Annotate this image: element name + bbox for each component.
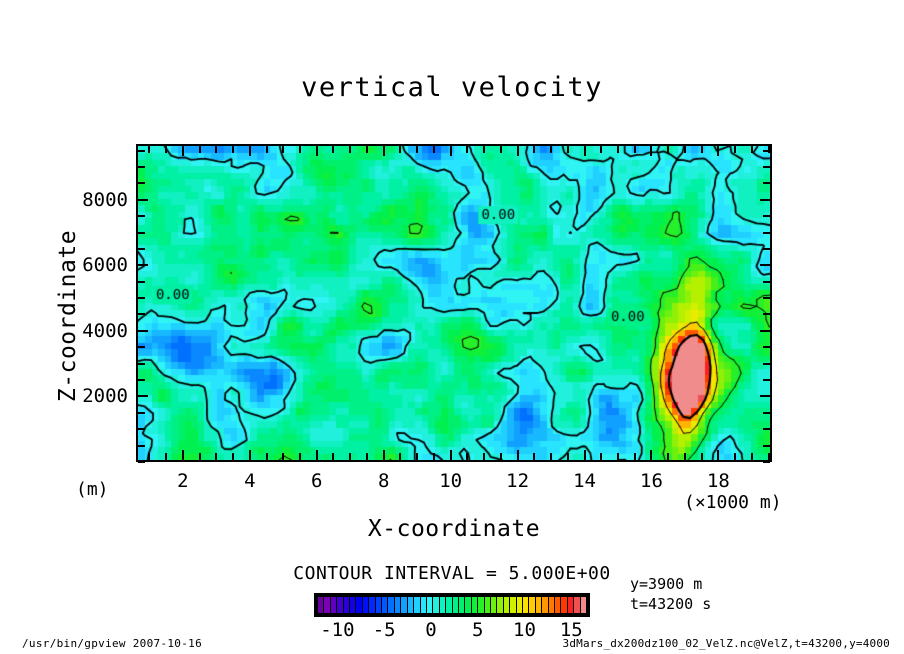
colorbar-cell (529, 597, 534, 613)
colorbar-cell (363, 597, 368, 613)
x-tick (684, 146, 686, 153)
x-tick (383, 146, 385, 156)
colorbar-cell (581, 597, 586, 613)
y-tick (763, 313, 770, 315)
x-tick (483, 146, 485, 153)
y-tick (138, 199, 148, 201)
colorbar-cell (440, 597, 445, 613)
velocity-field-heatmap (138, 146, 770, 460)
x-tick (383, 450, 385, 460)
y-tick (763, 412, 770, 414)
plot-area[interactable] (136, 144, 772, 462)
x-tick-label: 6 (311, 470, 322, 492)
x-tick (567, 453, 569, 460)
x-tick (450, 146, 452, 156)
x-tick (266, 146, 268, 153)
colorbar-cell (446, 597, 451, 613)
y-tick (138, 182, 145, 184)
x-tick (768, 453, 770, 460)
x-tick (533, 453, 535, 460)
y-tick (763, 428, 770, 430)
x-tick (232, 453, 234, 460)
y-tick (138, 363, 145, 365)
x-tick (533, 146, 535, 153)
x-tick (717, 450, 719, 460)
x-tick (215, 453, 217, 460)
x-tick (232, 146, 234, 153)
y-tick (760, 330, 770, 332)
x-tick (517, 450, 519, 460)
y-tick (763, 297, 770, 299)
x-tick (249, 450, 251, 460)
x-tick (366, 453, 368, 460)
colorbar-cell (376, 597, 381, 613)
y-tick (760, 199, 770, 201)
y-tick (138, 395, 148, 397)
x-tick (182, 146, 184, 156)
colorbar-cell (459, 597, 464, 613)
x-tick (349, 453, 351, 460)
x-tick (349, 146, 351, 153)
colorbar-cell (408, 597, 413, 613)
x-tick (701, 453, 703, 460)
colorbar-cell (504, 597, 509, 613)
y-tick (138, 264, 148, 266)
x-tick-label: 12 (506, 470, 529, 492)
y-tick (763, 232, 770, 234)
colorbar-cell (356, 597, 361, 613)
footer-command: /usr/bin/gpview 2007-10-16 (22, 637, 202, 650)
x-tick (299, 453, 301, 460)
annotation-time: t=43200 s (630, 594, 711, 614)
footer-dataset: 3dMars_dx200dz100_02_VelZ.nc@VelZ,t=4320… (563, 637, 890, 650)
annotation-y-slice: y=3900 m (630, 574, 711, 594)
colorbar-cell (382, 597, 387, 613)
x-tick (483, 453, 485, 460)
x-tick (282, 453, 284, 460)
x-tick (182, 450, 184, 460)
y-tick (763, 445, 770, 447)
colorbar-cell (536, 597, 541, 613)
x-tick (199, 146, 201, 153)
x-tick (751, 453, 753, 460)
y-axis-title: Z-coordinate (55, 186, 81, 446)
y-tick (760, 395, 770, 397)
colorbar-tick-label: -10 (320, 619, 354, 641)
colorbar-cell (318, 597, 323, 613)
x-tick (466, 453, 468, 460)
y-axis-unit-label: (m) (76, 479, 109, 500)
colorbar-cell (388, 597, 393, 613)
colorbar-cell (574, 597, 579, 613)
page-title: vertical velocity (0, 72, 904, 103)
x-tick (416, 146, 418, 153)
slice-annotations: y=3900 m t=43200 s (630, 574, 711, 614)
x-tick (165, 453, 167, 460)
y-tick (138, 428, 145, 430)
x-tick (684, 453, 686, 460)
x-tick (517, 146, 519, 156)
x-tick (584, 450, 586, 460)
colorbar-cell (472, 597, 477, 613)
x-tick (500, 453, 502, 460)
x-tick (634, 453, 636, 460)
x-tick (450, 450, 452, 460)
y-tick (138, 379, 145, 381)
colorbar-cell (510, 597, 515, 613)
colorbar-tick-label: -5 (373, 619, 396, 641)
x-tick (165, 146, 167, 153)
x-tick (466, 146, 468, 153)
x-tick (701, 146, 703, 153)
x-tick (316, 450, 318, 460)
y-tick (763, 379, 770, 381)
colorbar-cell (478, 597, 483, 613)
x-tick (399, 453, 401, 460)
y-tick (763, 215, 770, 217)
colorbar[interactable] (314, 593, 590, 617)
y-tick (763, 346, 770, 348)
x-tick (366, 146, 368, 153)
colorbar-cell (433, 597, 438, 613)
x-axis-title: X-coordinate (136, 516, 772, 542)
colorbar-cell (324, 597, 329, 613)
colorbar-cell (401, 597, 406, 613)
y-tick (763, 461, 770, 463)
y-tick (138, 330, 148, 332)
x-tick-label: 14 (573, 470, 596, 492)
colorbar-cell (542, 597, 547, 613)
colorbar-cell (453, 597, 458, 613)
x-axis-unit-label: (×1000 m) (684, 492, 782, 513)
x-tick (249, 146, 251, 156)
y-tick (138, 313, 145, 315)
y-tick (138, 248, 145, 250)
colorbar-tick-label: 10 (513, 619, 536, 641)
y-tick (138, 166, 145, 168)
x-tick (584, 146, 586, 156)
x-tick (650, 450, 652, 460)
x-tick (148, 453, 150, 460)
y-tick (763, 248, 770, 250)
x-tick (316, 146, 318, 156)
colorbar-cell (523, 597, 528, 613)
x-tick-label: 2 (177, 470, 188, 492)
x-tick (751, 146, 753, 153)
y-tick (138, 461, 145, 463)
plot-canvas: vertical velocity 24681012141618 2000400… (0, 0, 904, 654)
colorbar-cell (485, 597, 490, 613)
x-tick (266, 453, 268, 460)
y-tick (138, 346, 145, 348)
colorbar-tick-label: 0 (425, 619, 436, 641)
x-tick (600, 453, 602, 460)
y-tick (760, 264, 770, 266)
colorbar-cell (337, 597, 342, 613)
y-tick (138, 281, 145, 283)
y-tick (138, 215, 145, 217)
colorbar-cell (549, 597, 554, 613)
y-tick (138, 297, 145, 299)
y-tick (138, 232, 145, 234)
colorbar-cell (491, 597, 496, 613)
x-tick (734, 453, 736, 460)
colorbar-cell (331, 597, 336, 613)
x-tick (332, 453, 334, 460)
x-tick (550, 453, 552, 460)
y-tick (763, 150, 770, 152)
y-tick (763, 166, 770, 168)
x-tick (650, 146, 652, 156)
x-tick (299, 146, 301, 153)
x-tick (215, 146, 217, 153)
colorbar-cell (555, 597, 560, 613)
x-tick (332, 146, 334, 153)
y-tick (763, 281, 770, 283)
x-tick (667, 146, 669, 153)
colorbar-tick-labels: -10-5051015 (314, 617, 590, 643)
x-tick (399, 146, 401, 153)
x-tick (433, 453, 435, 460)
x-tick (567, 146, 569, 153)
colorbar-cell (369, 597, 374, 613)
x-tick-label: 10 (439, 470, 462, 492)
colorbar-cell (497, 597, 502, 613)
x-tick-label: 16 (640, 470, 663, 492)
colorbar-cell (350, 597, 355, 613)
y-tick (763, 182, 770, 184)
colorbar-cell (561, 597, 566, 613)
colorbar-cell (395, 597, 400, 613)
x-tick (634, 146, 636, 153)
colorbar-cell (517, 597, 522, 613)
colorbar-cell (414, 597, 419, 613)
x-tick (416, 453, 418, 460)
x-tick-label: 18 (707, 470, 730, 492)
x-tick (617, 453, 619, 460)
colorbar-cell (344, 597, 349, 613)
x-tick-label: 4 (244, 470, 255, 492)
x-tick (667, 453, 669, 460)
x-tick (717, 146, 719, 156)
y-tick (763, 363, 770, 365)
colorbar-tick-label: 5 (472, 619, 483, 641)
y-tick (138, 412, 145, 414)
x-tick (734, 146, 736, 153)
y-tick (138, 150, 145, 152)
y-tick (138, 445, 145, 447)
x-tick (617, 146, 619, 153)
x-tick (500, 146, 502, 153)
x-tick (433, 146, 435, 153)
x-tick (550, 146, 552, 153)
contour-interval-caption: CONTOUR INTERVAL = 5.000E+00 (0, 563, 904, 584)
x-tick (199, 453, 201, 460)
colorbar-cell (421, 597, 426, 613)
x-tick (282, 146, 284, 153)
colorbar-cell (465, 597, 470, 613)
x-tick (600, 146, 602, 153)
x-tick-label: 8 (378, 470, 389, 492)
x-tick (148, 146, 150, 153)
colorbar-cell (568, 597, 573, 613)
colorbar-cell (427, 597, 432, 613)
